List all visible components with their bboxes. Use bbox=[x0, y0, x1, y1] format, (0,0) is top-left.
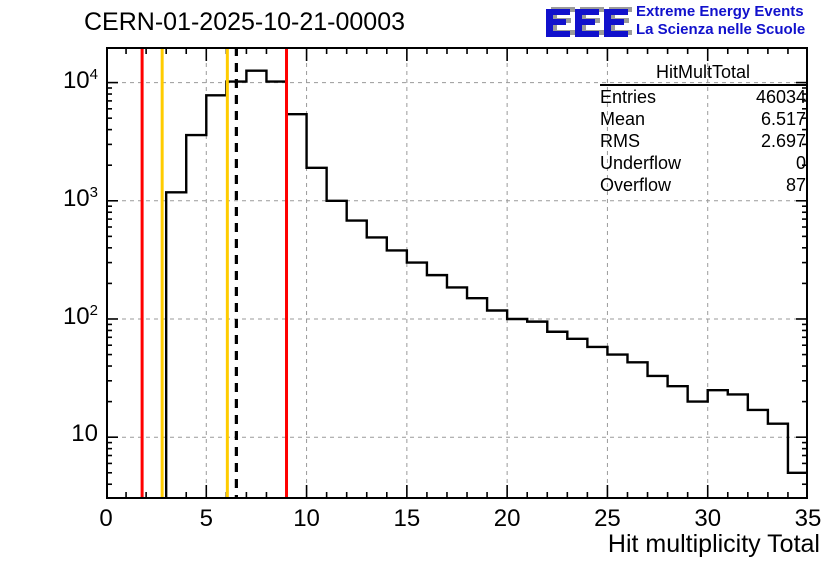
stats-row: Overflow87 bbox=[600, 174, 806, 196]
x-tick-label: 25 bbox=[577, 505, 637, 533]
stats-row-key: RMS bbox=[600, 131, 640, 152]
stats-row-key: Entries bbox=[600, 87, 656, 108]
x-tick-label: 20 bbox=[477, 505, 537, 533]
x-tick-label: 35 bbox=[778, 505, 836, 533]
stats-row: RMS2.697 bbox=[600, 130, 806, 152]
x-tick-label: 10 bbox=[277, 505, 337, 533]
stats-row: Mean6.517 bbox=[600, 108, 806, 130]
x-tick-label: 15 bbox=[377, 505, 437, 533]
stats-row-value: 6.517 bbox=[761, 109, 806, 130]
x-tick-label: 0 bbox=[76, 505, 136, 533]
y-tick-label: 103 bbox=[63, 184, 98, 213]
y-tick-label: 10 bbox=[71, 420, 98, 448]
x-axis-title: Hit multiplicity Total bbox=[608, 530, 820, 559]
page-title: CERN-01-2025-10-21-00003 bbox=[84, 8, 405, 37]
eee-logo-text: Extreme Energy Events La Scienza nelle S… bbox=[636, 3, 805, 39]
y-tick-label: 104 bbox=[63, 66, 98, 95]
stats-row-key: Underflow bbox=[600, 153, 681, 174]
eee-logo-line2: La Scienza nelle Scuole bbox=[636, 21, 805, 39]
stats-row-key: Overflow bbox=[600, 175, 671, 196]
eee-logo: Extreme Energy Events La Scienza nelle S… bbox=[544, 2, 834, 42]
y-tick-label: 102 bbox=[63, 302, 98, 331]
eee-logo-mark bbox=[544, 4, 632, 40]
stats-rows: Entries46034Mean6.517RMS2.697Underflow0O… bbox=[600, 86, 806, 196]
x-tick-label: 30 bbox=[678, 505, 738, 533]
stats-row-key: Mean bbox=[600, 109, 645, 130]
stats-row-value: 87 bbox=[786, 175, 806, 196]
x-tick-label: 5 bbox=[176, 505, 236, 533]
root-canvas: CERN-01-2025-10-21-00003 bbox=[0, 0, 836, 572]
stats-row-value: 0 bbox=[796, 153, 806, 174]
stats-box: HitMultTotal Entries46034Mean6.517RMS2.6… bbox=[600, 62, 806, 202]
stats-row: Underflow0 bbox=[600, 152, 806, 174]
stats-row-value: 2.697 bbox=[761, 131, 806, 152]
eee-logo-line1: Extreme Energy Events bbox=[636, 3, 805, 21]
stats-histogram-name: HitMultTotal bbox=[600, 62, 806, 86]
stats-row: Entries46034 bbox=[600, 86, 806, 108]
stats-row-value: 46034 bbox=[756, 87, 806, 108]
